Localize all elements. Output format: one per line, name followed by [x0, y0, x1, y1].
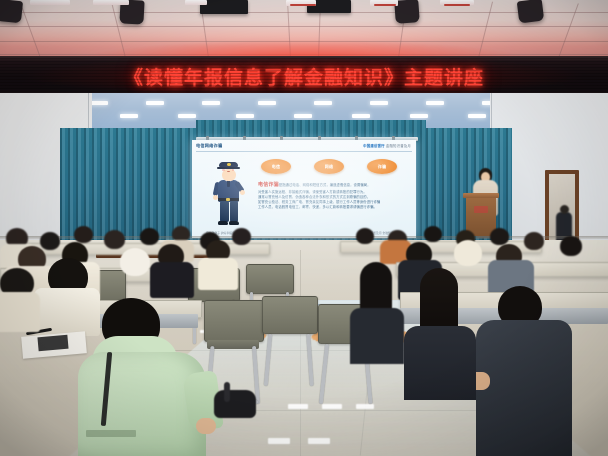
floor-reflection-light: [268, 438, 290, 444]
recessed-light: [236, 114, 254, 118]
recessed-light: [468, 114, 486, 118]
notebook-photo: [37, 335, 68, 352]
ceiling-light-panel: [185, 0, 207, 5]
attendee-head: [74, 226, 93, 243]
ceiling-light-stripe: [374, 4, 396, 6]
attendee-head: [356, 228, 374, 244]
recessed-light: [370, 101, 388, 105]
led-scanlines: [0, 58, 608, 94]
podium-top: [463, 193, 499, 198]
ceiling-light-panel: [30, 0, 70, 5]
recessed-light: [258, 101, 276, 105]
recessed-light: [178, 114, 196, 118]
ceiling-light-stripe: [444, 4, 470, 6]
led-banner: 《读懂年报信息了解金融知识》主题讲座: [0, 58, 608, 94]
attendee-body: [198, 258, 238, 290]
backpack-strap: [224, 382, 230, 402]
attendee-head: [232, 228, 251, 245]
ceiling-light-stripe: [290, 4, 316, 6]
attendee-body: [0, 292, 40, 332]
recessed-light: [426, 101, 444, 105]
attendee-body: [476, 320, 572, 456]
ceiling-light-panel: [93, 0, 129, 5]
attendee-head: [104, 230, 125, 249]
podium-emblem: [474, 206, 488, 213]
floor-reflection-light: [288, 404, 308, 409]
ceiling-projector: [200, 0, 248, 14]
attendee-head: [454, 240, 482, 266]
lecture-hall-photo: 《读懂年报信息了解金融知识》主题讲座 电信网络诈骗 中国建设银行: [0, 0, 608, 456]
slide-projector-glow: [192, 140, 416, 238]
attendee-head: [490, 228, 509, 245]
ceiling-speaker: [517, 0, 544, 23]
attendee-head: [524, 232, 544, 250]
recessed-light: [90, 101, 108, 105]
floor-reflection-light: [308, 438, 330, 444]
foreground-attendee-jacket-text: [86, 430, 136, 437]
ceiling-speaker: [0, 0, 23, 23]
attendee-head: [40, 232, 60, 250]
recessed-light: [352, 114, 370, 118]
attendee-body: [150, 262, 194, 298]
projection-screen: 电信网络诈骗 中国建设银行 金融知识普及月: [192, 140, 416, 238]
person-in-doorway-head: [560, 205, 569, 214]
attendee-head: [560, 236, 582, 256]
ceiling-speaker: [394, 0, 420, 24]
attendee-head: [140, 228, 159, 245]
floor-reflection-light: [322, 404, 342, 409]
attendee-body: [404, 326, 476, 400]
ceiling-red-glow: [0, 24, 608, 58]
foreground-attendee-hand: [196, 418, 216, 434]
attendee-head: [424, 226, 442, 242]
floor-reflection-light: [356, 404, 374, 409]
recessed-light: [146, 101, 164, 105]
recessed-light: [120, 114, 138, 118]
backpack: [214, 390, 256, 418]
recessed-light: [294, 114, 312, 118]
attendee-body: [350, 308, 404, 364]
recessed-light: [202, 101, 220, 105]
recessed-light: [314, 101, 332, 105]
attendee-head: [120, 248, 150, 276]
recessed-light: [410, 114, 428, 118]
